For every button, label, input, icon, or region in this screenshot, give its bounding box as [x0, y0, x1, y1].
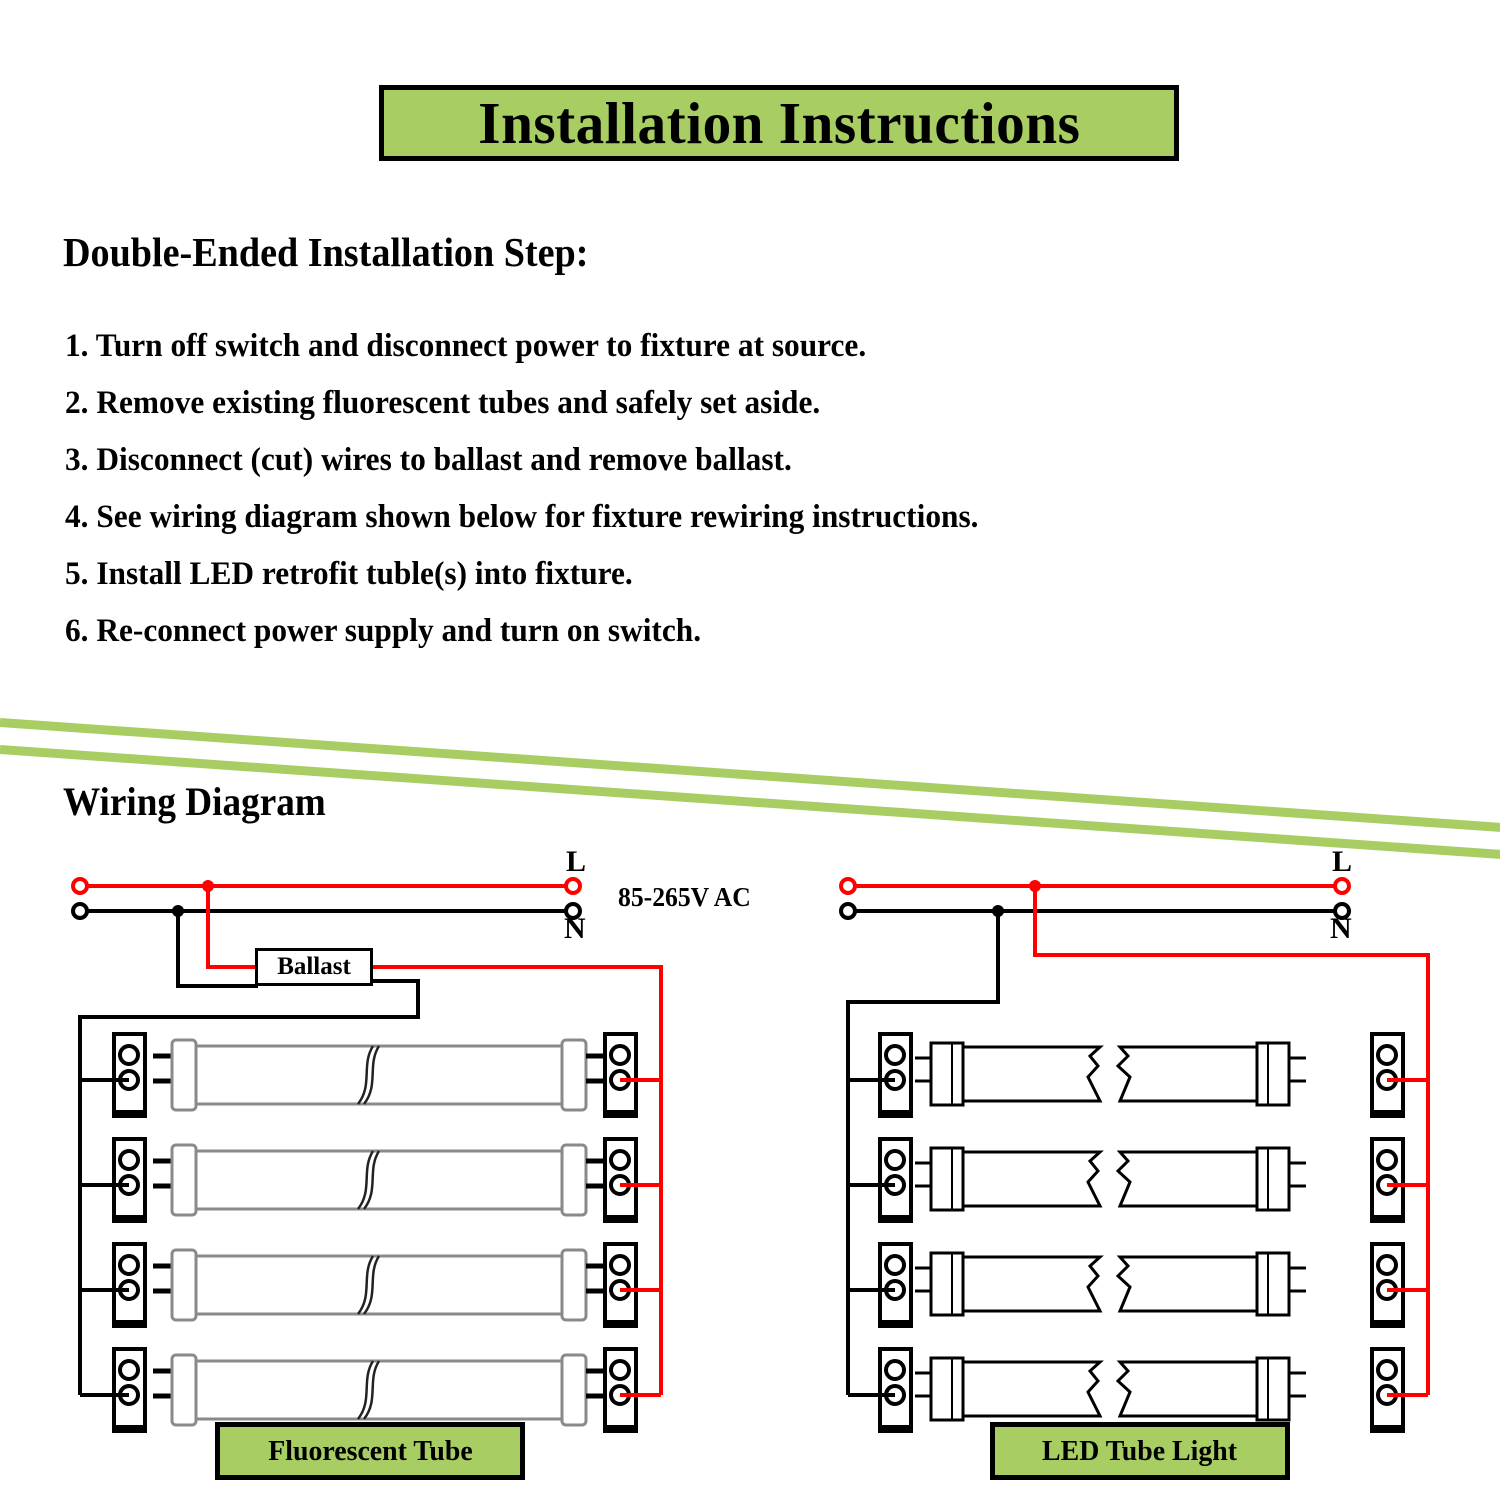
right-tube-row: [848, 1139, 1428, 1221]
led-tube-endcap: [1257, 1358, 1289, 1420]
tube-endcap: [562, 1145, 586, 1215]
left-neutral-to-ballast: [178, 911, 258, 986]
socket-hole-upper: [120, 1046, 138, 1064]
led-tube-endcap: [1257, 1148, 1289, 1210]
right-neutral-label: N: [1330, 912, 1352, 946]
tube-endcap: [562, 1355, 586, 1425]
right-wiring-group: [841, 879, 1428, 1431]
socket-hole-upper: [886, 1361, 904, 1379]
socket-hole-upper: [611, 1046, 629, 1064]
socket-hole-upper: [886, 1151, 904, 1169]
fluorescent-tube-body: [196, 1361, 562, 1419]
tube-endcap: [172, 1040, 196, 1110]
tube-endcap: [172, 1355, 196, 1425]
ballast-component: Ballast: [255, 948, 373, 986]
fluorescent-tube-body: [196, 1046, 562, 1104]
socket-hole-upper: [1378, 1256, 1396, 1274]
right-live-label: L: [1332, 845, 1352, 879]
led-tube-body-left: [963, 1362, 1100, 1416]
led-tube-endcap: [1257, 1043, 1289, 1105]
left-live-junction-dot: [202, 880, 214, 892]
socket-hole-upper: [886, 1046, 904, 1064]
led-tube-body-right: [1118, 1362, 1258, 1416]
led-tube-endcap: [1257, 1253, 1289, 1315]
left-tube-row: [80, 1244, 661, 1326]
socket-hole-upper: [120, 1361, 138, 1379]
right-live-terminal-end: [1335, 879, 1349, 893]
led-tube-body-left: [963, 1047, 1100, 1101]
wiring-diagram: [0, 0, 1500, 1500]
left-neutral-terminal-start: [73, 904, 87, 918]
led-tube-body-right: [1118, 1152, 1258, 1206]
socket-hole-upper: [611, 1361, 629, 1379]
socket-hole-upper: [1378, 1361, 1396, 1379]
right-live-junction-dot: [1029, 880, 1041, 892]
socket-hole-upper: [1378, 1151, 1396, 1169]
ballast-label: Ballast: [277, 953, 351, 981]
socket-hole-upper: [1378, 1046, 1396, 1064]
left-live-terminal-start: [73, 879, 87, 893]
fluorescent-tube-body: [196, 1151, 562, 1209]
led-tube-body-left: [963, 1152, 1100, 1206]
right-live-terminal-start: [841, 879, 855, 893]
right-neutral-junction-dot: [992, 905, 1004, 917]
right-neutral-terminal-start: [841, 904, 855, 918]
socket-hole-upper: [886, 1256, 904, 1274]
left-tube-row: [80, 1349, 661, 1431]
led-tube-endcap: [931, 1358, 963, 1420]
left-tube-row: [80, 1139, 661, 1221]
tube-endcap: [562, 1040, 586, 1110]
fluorescent-tube-caption: Fluorescent Tube: [268, 1435, 472, 1468]
tube-endcap: [562, 1250, 586, 1320]
led-tube-endcap: [931, 1148, 963, 1210]
right-tube-row: [848, 1034, 1428, 1116]
led-tube-body-left: [963, 1257, 1100, 1311]
led-tube-caption-box: LED Tube Light: [990, 1422, 1290, 1480]
left-live-to-ballast: [208, 886, 258, 967]
left-tube-row: [80, 1034, 661, 1116]
led-tube-endcap: [931, 1043, 963, 1105]
fluorescent-tube-body: [196, 1256, 562, 1314]
tube-endcap: [172, 1250, 196, 1320]
socket-hole-upper: [120, 1256, 138, 1274]
led-tube-body-right: [1118, 1257, 1258, 1311]
left-live-label: L: [566, 845, 586, 879]
left-live-terminal-end: [566, 879, 580, 893]
left-neutral-junction-dot: [172, 905, 184, 917]
socket-hole-upper: [120, 1151, 138, 1169]
tube-endcap: [172, 1145, 196, 1215]
socket-hole-upper: [611, 1151, 629, 1169]
led-tube-body-right: [1118, 1047, 1258, 1101]
left-neutral-label: N: [564, 912, 586, 946]
right-live-bus: [1035, 886, 1428, 1395]
led-tube-endcap: [931, 1253, 963, 1315]
led-tube-caption: LED Tube Light: [1042, 1435, 1237, 1468]
voltage-label: 85-265V AC: [618, 882, 751, 913]
fluorescent-tube-caption-box: Fluorescent Tube: [215, 1422, 525, 1480]
right-tube-row: [848, 1244, 1428, 1326]
right-tube-row: [848, 1349, 1428, 1431]
socket-hole-upper: [611, 1256, 629, 1274]
